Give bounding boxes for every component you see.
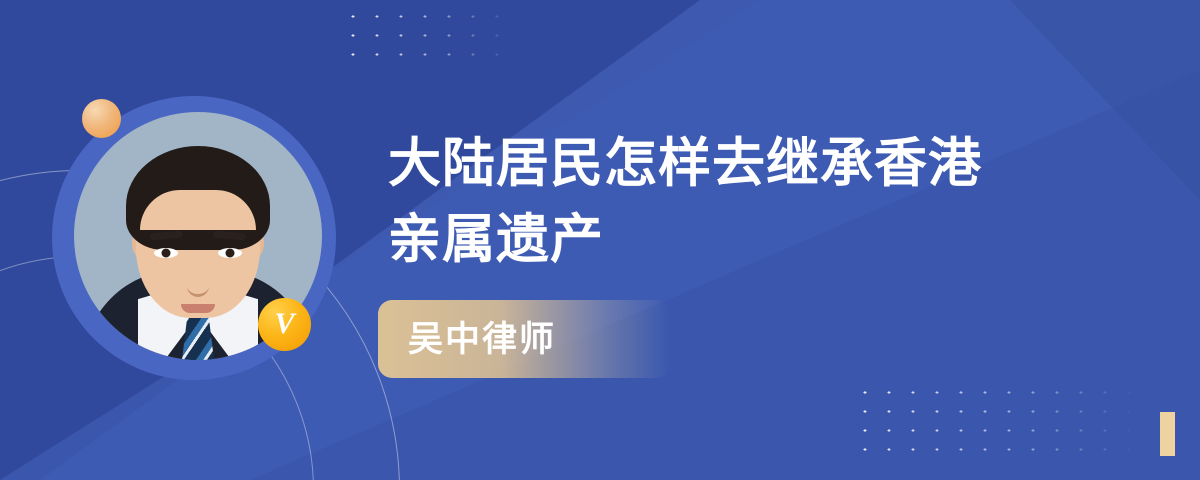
dot-grid-bottom-right-icon [850, 380, 1140, 458]
portrait-eye-right [218, 248, 242, 258]
portrait-nose [187, 270, 209, 297]
verified-badge-label: V [274, 309, 294, 339]
portrait-eye-left [154, 248, 178, 258]
orange-dot-decoration [82, 99, 121, 138]
page-title: 大陆居民怎样去继承香港 亲属遗产 [388, 126, 1088, 279]
verified-badge-icon: V [258, 298, 311, 351]
article-cover-banner: V 大陆居民怎样去继承香港 亲属遗产 吴中律师 [0, 0, 1200, 480]
author-badge: 吴中律师 [378, 300, 670, 378]
accent-bar [1160, 412, 1175, 456]
portrait-hair [126, 146, 270, 250]
dot-grid-top-right-icon [338, 4, 518, 62]
author-name: 吴中律师 [408, 322, 556, 357]
portrait-mouth [181, 304, 215, 313]
